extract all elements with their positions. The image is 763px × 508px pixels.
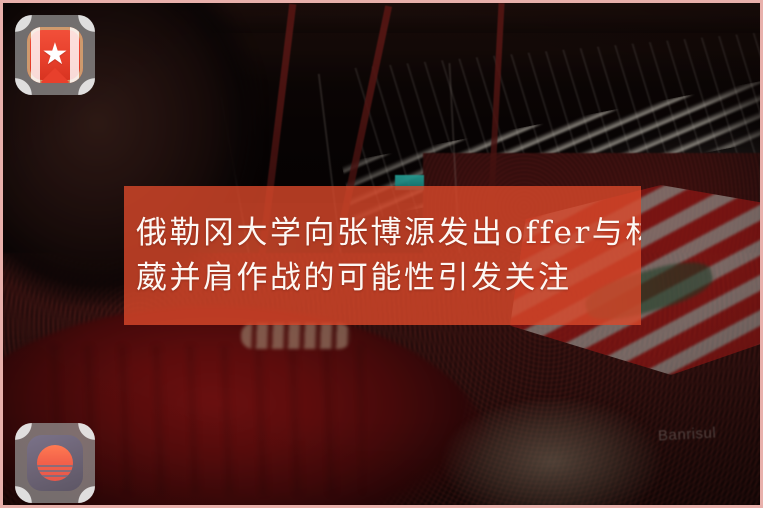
sun-icon bbox=[37, 445, 73, 481]
sunrise-app-icon[interactable] bbox=[15, 423, 95, 503]
star-icon: ★ bbox=[42, 40, 69, 70]
foreground-hand bbox=[241, 323, 351, 349]
headline-line-1: 俄勒冈大学向张博源发出offer与林 bbox=[136, 211, 631, 255]
sun-stripe-2 bbox=[37, 470, 73, 472]
sunrise-icon-body bbox=[27, 435, 83, 491]
headline-line-2: 葳并肩作战的可能性引发关注 bbox=[136, 256, 631, 300]
wunderlist-icon-body: ★ bbox=[27, 27, 83, 83]
wunderlist-page-left bbox=[31, 27, 40, 83]
jersey-sponsor-text: Banrisul bbox=[657, 424, 716, 444]
wunderlist-app-icon[interactable]: ★ bbox=[15, 15, 95, 95]
headline-banner: 俄勒冈大学向张博源发出offer与林 葳并肩作战的可能性引发关注 bbox=[124, 186, 641, 325]
screenshot-root: Banrisul 俄勒冈大学向张博源发出offer与林 葳并肩作战的可能性引发关… bbox=[0, 0, 763, 508]
sun-stripe-1 bbox=[37, 465, 73, 467]
wunderlist-page-right bbox=[70, 27, 79, 83]
sun-stripe-3 bbox=[37, 475, 73, 477]
